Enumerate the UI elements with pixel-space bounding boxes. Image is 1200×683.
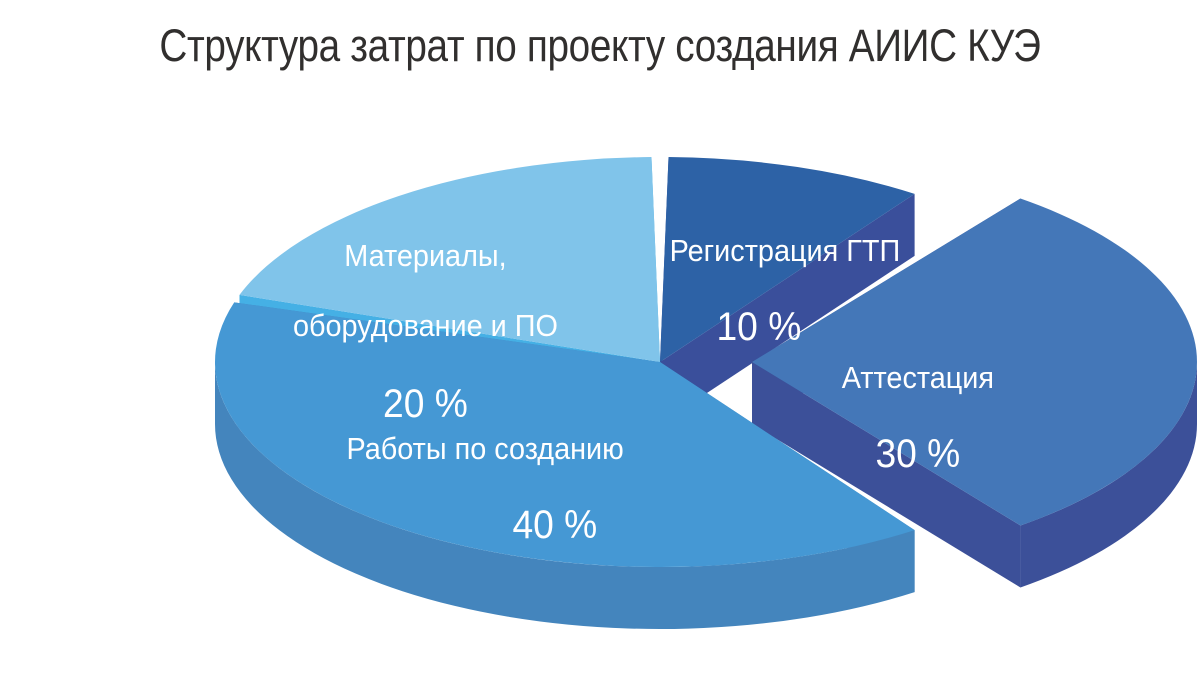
slice-label-materials-name-line2: оборудование и ПО bbox=[293, 309, 558, 344]
slice-label-attestation: Аттестация 30 % bbox=[842, 325, 994, 513]
slice-label-attestation-name: Аттестация bbox=[842, 361, 994, 396]
slice-label-materials: Материалы, оборудование и ПО 20 % bbox=[293, 203, 558, 462]
slice-label-registration-name: Регистрация ГТП bbox=[670, 234, 900, 269]
slice-label-attestation-value: 30 % bbox=[842, 432, 994, 477]
slice-label-materials-name-line1: Материалы, bbox=[293, 239, 558, 274]
slice-label-materials-value: 20 % bbox=[293, 382, 558, 427]
slice-label-works-value: 40 % bbox=[346, 503, 623, 548]
pie-chart-figure: Структура затрат по проекту создания АИИ… bbox=[0, 0, 1200, 683]
